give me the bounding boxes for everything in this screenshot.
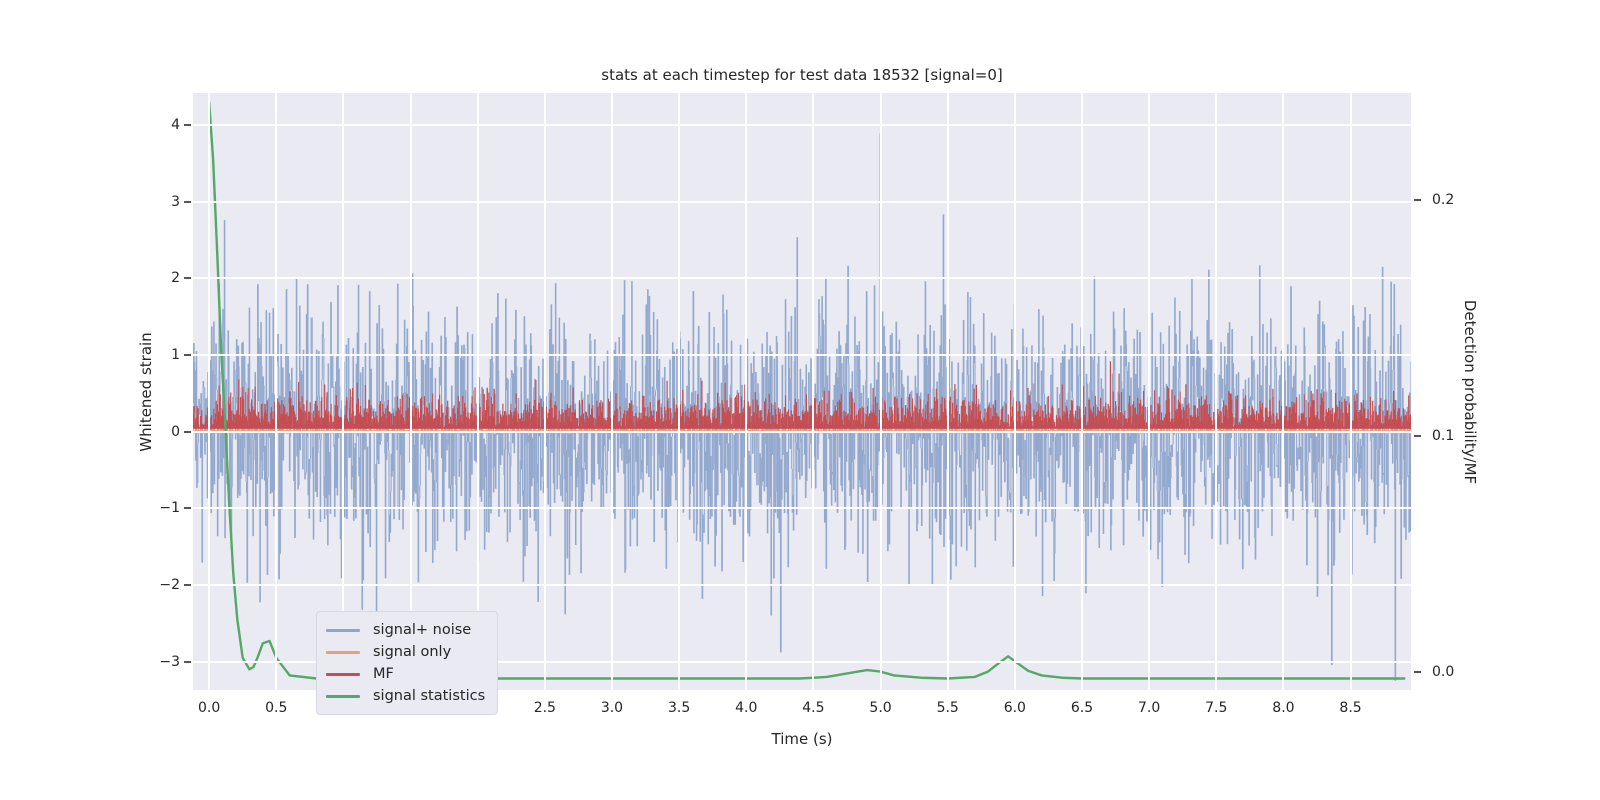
- y-axis-tick-label: −2: [120, 577, 180, 593]
- gridline-vertical: [678, 93, 680, 690]
- x-axis-tick-label: 0.0: [179, 700, 239, 716]
- legend-color-swatch: [326, 629, 360, 632]
- y-axis-tick-label: −3: [120, 654, 180, 670]
- x-axis-tick-label: 0.5: [246, 700, 306, 716]
- y-axis-right-label: Detection probability/MF: [1461, 299, 1479, 483]
- gridline-horizontal: [193, 201, 1411, 203]
- legend-color-swatch: [326, 651, 360, 654]
- gridline-vertical: [1350, 93, 1352, 690]
- gridline-vertical: [1282, 93, 1284, 690]
- legend-label: signal+ noise: [373, 622, 471, 638]
- gridline-horizontal: [193, 584, 1411, 586]
- legend-item[interactable]: signal statistics: [326, 685, 485, 707]
- page-title: stats at each timestep for test data 185…: [193, 66, 1411, 84]
- gridline-vertical: [1081, 93, 1083, 690]
- legend-item[interactable]: signal+ noise: [326, 619, 485, 641]
- gridline-vertical: [544, 93, 546, 690]
- x-axis-tick-label: 7.0: [1119, 700, 1179, 716]
- y-axis-tick-mark: [184, 201, 191, 203]
- legend-item[interactable]: MF: [326, 663, 485, 685]
- legend-label: signal only: [373, 644, 451, 660]
- gridline-vertical: [947, 93, 949, 690]
- y-axis-left-label: Whitened strain: [137, 332, 155, 451]
- y-axis-tick-label: −1: [120, 500, 180, 516]
- x-axis-tick-label: 5.0: [851, 700, 911, 716]
- x-axis-tick-label: 3.5: [649, 700, 709, 716]
- x-axis-tick-label: 2.5: [515, 700, 575, 716]
- gridline-vertical: [1148, 93, 1150, 690]
- y-axis-tick-mark: [184, 507, 191, 509]
- legend-color-swatch: [326, 695, 360, 698]
- y-axis-tick-mark: [184, 277, 191, 279]
- y-axis-tick-mark: [184, 661, 191, 663]
- gridline-vertical: [342, 93, 344, 690]
- gridline-vertical: [275, 93, 277, 690]
- gridline-vertical: [812, 93, 814, 690]
- chart-data-layer: [193, 93, 1411, 690]
- legend-label: MF: [373, 666, 394, 682]
- gridline-horizontal: [193, 277, 1411, 279]
- x-axis-tick-label: 5.5: [918, 700, 978, 716]
- y-axis-right-tick-mark: [1414, 199, 1421, 201]
- figure-canvas: stats at each timestep for test data 185…: [0, 0, 1600, 800]
- x-axis-label: Time (s): [772, 730, 833, 748]
- plot-area: [193, 93, 1411, 690]
- gridline-horizontal: [193, 431, 1411, 433]
- y-axis-right-tick-label: 0.2: [1432, 192, 1502, 208]
- x-axis-tick-label: 3.0: [582, 700, 642, 716]
- y-axis-tick-mark: [184, 124, 191, 126]
- gridline-vertical: [745, 93, 747, 690]
- y-axis-tick-mark: [184, 354, 191, 356]
- y-axis-tick-label: 3: [120, 194, 180, 210]
- x-axis-tick-label: 8.0: [1253, 700, 1313, 716]
- gridline-vertical: [1215, 93, 1217, 690]
- y-axis-right-tick-mark: [1414, 671, 1421, 673]
- y-axis-tick-label: 4: [120, 117, 180, 133]
- gridline-vertical: [1014, 93, 1016, 690]
- x-axis-tick-label: 4.0: [716, 700, 776, 716]
- y-axis-tick-mark: [184, 584, 191, 586]
- chart-legend[interactable]: signal+ noisesignal onlyMFsignal statist…: [316, 611, 498, 715]
- legend-color-swatch: [326, 673, 360, 676]
- x-axis-tick-label: 6.0: [985, 700, 1045, 716]
- y-axis-right-tick-mark: [1414, 435, 1421, 437]
- legend-label: signal statistics: [373, 688, 485, 704]
- gridline-vertical: [477, 93, 479, 690]
- gridline-vertical: [611, 93, 613, 690]
- x-axis-tick-label: 8.5: [1321, 700, 1381, 716]
- y-axis-tick-mark: [184, 431, 191, 433]
- y-axis-right-tick-label: 0.0: [1432, 664, 1502, 680]
- x-axis-tick-label: 6.5: [1052, 700, 1112, 716]
- gridline-horizontal: [193, 507, 1411, 509]
- gridline-vertical: [208, 93, 210, 690]
- gridline-horizontal: [193, 124, 1411, 126]
- x-axis-tick-label: 4.5: [783, 700, 843, 716]
- gridline-vertical: [410, 93, 412, 690]
- x-axis-tick-label: 7.5: [1186, 700, 1246, 716]
- gridline-horizontal: [193, 354, 1411, 356]
- gridline-vertical: [880, 93, 882, 690]
- y-axis-tick-label: 2: [120, 270, 180, 286]
- legend-item[interactable]: signal only: [326, 641, 485, 663]
